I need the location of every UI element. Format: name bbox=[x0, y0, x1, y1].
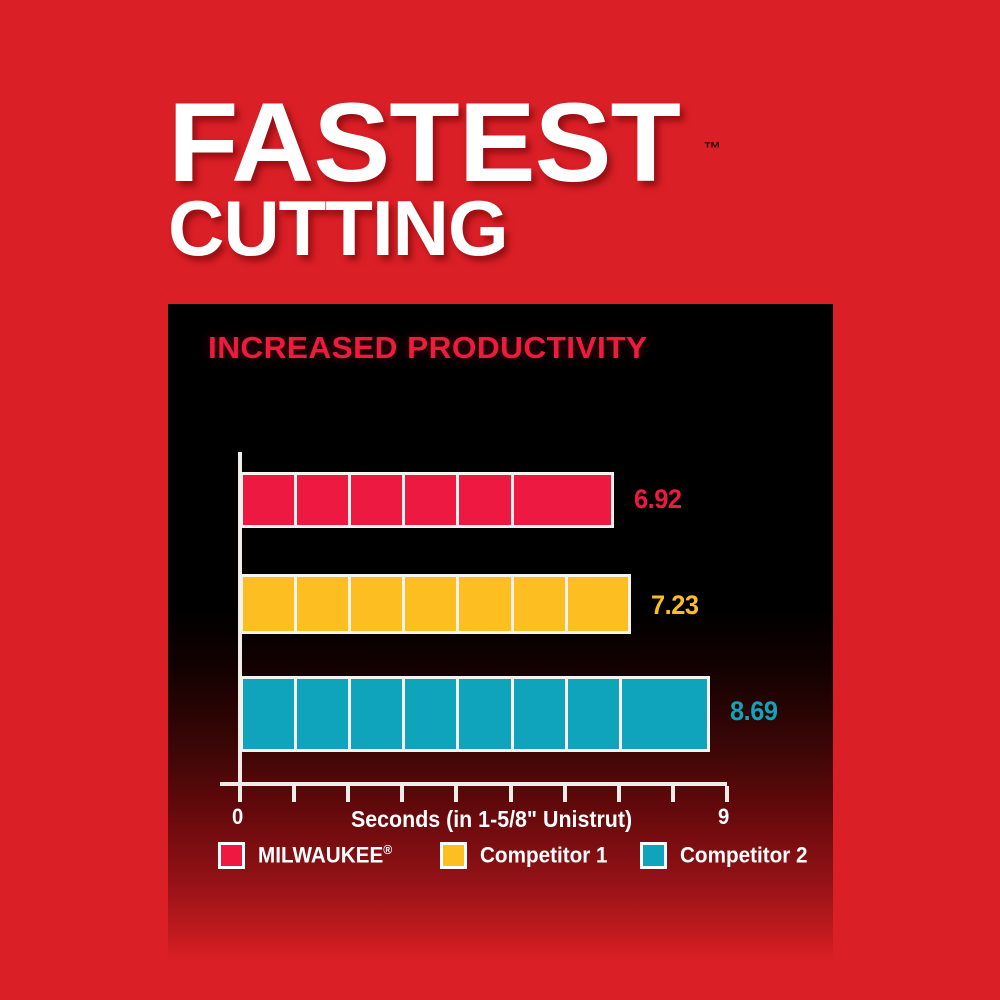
x-axis-tick bbox=[725, 786, 729, 802]
bar-segment bbox=[459, 475, 513, 525]
x-axis-max-label: 9 bbox=[718, 804, 729, 830]
headline: FASTEST ™ CUTTING bbox=[168, 96, 868, 262]
x-axis-tick bbox=[292, 786, 296, 802]
x-axis-min-label: 0 bbox=[232, 804, 243, 830]
legend-label-competitor-2: Competitor 2 bbox=[680, 842, 808, 868]
bar-segment bbox=[351, 679, 405, 749]
bar-segment bbox=[568, 679, 622, 749]
bar-segment bbox=[514, 577, 568, 631]
bar-segment bbox=[297, 679, 351, 749]
x-axis-tick bbox=[509, 786, 513, 802]
bar-segment bbox=[243, 679, 297, 749]
legend-item-milwaukee[interactable]: MILWAUKEE® bbox=[218, 842, 401, 869]
bar-segment bbox=[243, 577, 297, 631]
bar-segment bbox=[351, 577, 405, 631]
bar-segment bbox=[351, 475, 405, 525]
legend-swatch-icon-milwaukee bbox=[218, 842, 245, 869]
bar-segment bbox=[297, 475, 351, 525]
headline-line-2: CUTTING bbox=[168, 196, 868, 262]
bar-competitor-1 bbox=[240, 574, 631, 634]
value-label-milwaukee: 6.92 bbox=[634, 484, 682, 515]
bar-segment bbox=[514, 475, 568, 525]
legend-label-milwaukee: MILWAUKEE® bbox=[258, 842, 392, 868]
x-axis-tick bbox=[671, 786, 675, 802]
legend-swatch-icon-competitor-1 bbox=[440, 842, 467, 869]
bar-segment bbox=[514, 679, 568, 749]
bar-segment bbox=[459, 577, 513, 631]
chart-panel: INCREASED PRODUCTIVITY 6.92 7.23 8.69 0 … bbox=[168, 304, 833, 960]
bar-milwaukee bbox=[240, 472, 614, 528]
trademark-symbol: ™ bbox=[704, 142, 722, 156]
bar-competitor-2 bbox=[240, 676, 710, 752]
bar-segment bbox=[243, 475, 297, 525]
legend-swatch-icon-competitor-2 bbox=[640, 842, 667, 869]
bar-segment bbox=[297, 577, 351, 631]
x-axis-tick bbox=[238, 786, 242, 802]
x-axis-tick bbox=[454, 786, 458, 802]
legend-label-competitor-1: Competitor 1 bbox=[480, 842, 608, 868]
bar-segment bbox=[568, 577, 622, 631]
bar-segment bbox=[405, 475, 459, 525]
value-label-competitor-2: 8.69 bbox=[730, 696, 778, 727]
chart-legend: MILWAUKEE® Competitor 1 Competitor 2 bbox=[218, 842, 818, 882]
legend-item-competitor-2[interactable]: Competitor 2 bbox=[640, 842, 816, 869]
x-axis-caption: Seconds (in 1-5/8" Unistrut) bbox=[351, 806, 632, 833]
legend-item-competitor-1[interactable]: Competitor 1 bbox=[440, 842, 616, 869]
x-axis-tick bbox=[346, 786, 350, 802]
x-axis-tick bbox=[563, 786, 567, 802]
bar-segment bbox=[405, 577, 459, 631]
bar-segment bbox=[459, 679, 513, 749]
bar-segment bbox=[405, 679, 459, 749]
headline-line-1: FASTEST ™ bbox=[168, 96, 889, 190]
value-label-competitor-1: 7.23 bbox=[651, 590, 699, 621]
x-axis-tick bbox=[617, 786, 621, 802]
x-axis-tick bbox=[400, 786, 404, 802]
bar-segment bbox=[622, 679, 676, 749]
